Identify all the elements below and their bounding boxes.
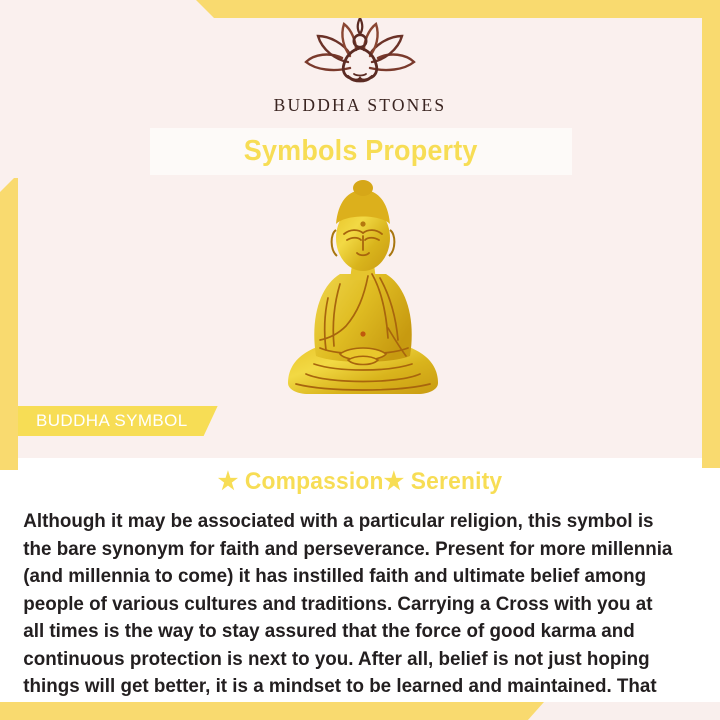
frame-accent-left [0, 178, 18, 470]
lotus-meditation-icon [294, 18, 426, 90]
title-banner: Symbols Property [150, 128, 572, 175]
page-title: Symbols Property [244, 135, 478, 168]
golden-buddha-statue-image [268, 178, 458, 410]
brand-wordmark: BUDDHA STONES [274, 95, 447, 116]
buddha-symbol-badge: BUDDHA SYMBOL [18, 406, 218, 436]
section-heading: ★ Compassion★ Serenity [18, 458, 702, 496]
infographic-poster: BUDDHA STONES Symbols Property [0, 0, 720, 720]
section-body-text: Although it may be associated with a par… [0, 496, 698, 720]
description-section: ★ Compassion★ Serenity Although it may b… [0, 458, 720, 720]
badge-label: BUDDHA SYMBOL [36, 411, 188, 431]
brand-logo-block: BUDDHA STONES [0, 18, 720, 116]
